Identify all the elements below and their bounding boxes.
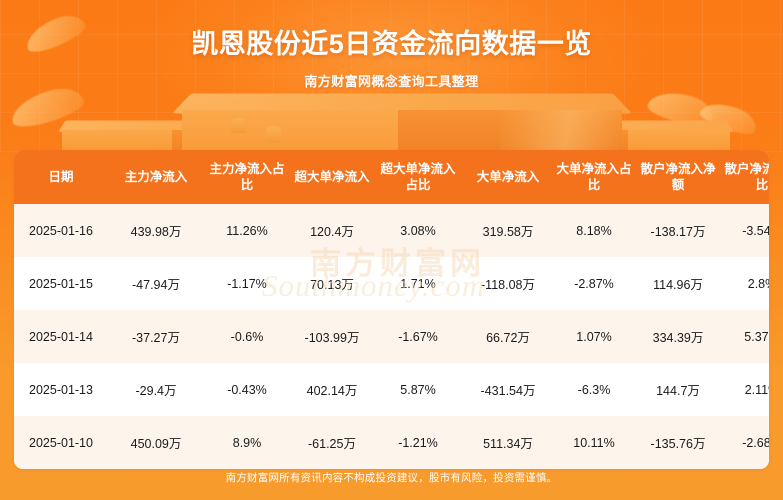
column-header-0: 日期 [14,150,108,204]
table-cell: -1.17% [204,257,290,310]
table-cell: 450.09万 [108,416,204,469]
table-cell: -47.94万 [108,257,204,310]
cell-date: 2025-01-14 [14,310,108,363]
table-cell: 1.07% [554,310,634,363]
table-cell: 439.98万 [108,204,204,257]
table-cell: -118.08万 [462,257,554,310]
column-header-3: 超大单净流入 [290,150,374,204]
disclaimer-text: 南方财富网所有资讯内容不构成投资建议，股市有风险，投资需谨慎。 [0,470,783,485]
table-cell: -6.3% [554,363,634,416]
podium-right-top [520,121,733,132]
table-cell: -2.87% [554,257,634,310]
podium-illustration [0,84,783,154]
table-cell: -1.67% [374,310,462,363]
table-cell: -138.17万 [634,204,722,257]
podium-left-top [58,121,265,132]
podium-stud [266,126,281,143]
page-subtitle: 南方财富网概念查询工具整理 [0,71,783,90]
table-header-row: 日期主力净流入主力净流入占比超大单净流入超大单净流入占比大单净流入大单净流入占比… [14,150,769,204]
table-cell: -29.4万 [108,363,204,416]
podium-center-front [182,110,398,154]
table-cell: -1.21% [374,416,462,469]
table-cell: -37.27万 [108,310,204,363]
table-cell: 70.13万 [290,257,374,310]
table-header: 日期主力净流入主力净流入占比超大单净流入超大单净流入占比大单净流入大单净流入占比… [14,150,769,204]
table-cell: 2.11% [722,363,769,416]
table-cell: 319.58万 [462,204,554,257]
leaf-decoration-icon [646,86,717,129]
cell-date: 2025-01-15 [14,257,108,310]
podium-center-side [398,110,622,154]
table-row: 2025-01-10450.09万8.9%-61.25万-1.21%511.34… [14,416,769,469]
column-header-4: 超大单净流入占比 [374,150,462,204]
table-cell: 11.26% [204,204,290,257]
leaf-decoration-icon [698,97,761,139]
table-row: 2025-01-13-29.4万-0.43%402.14万5.87%-431.5… [14,363,769,416]
cell-date: 2025-01-13 [14,363,108,416]
table-cell: 144.7万 [634,363,722,416]
table-cell: 66.72万 [462,310,554,363]
table-cell: 2.8% [722,257,769,310]
table-cell: -135.76万 [634,416,722,469]
table-cell: 511.34万 [462,416,554,469]
table-cell: 3.08% [374,204,462,257]
podium-stud [231,118,246,133]
table-cell: -2.68% [722,416,769,469]
table-cell: -3.54% [722,204,769,257]
table-cell: 120.4万 [290,204,374,257]
table-cell: -0.43% [204,363,290,416]
table-cell: 5.87% [374,363,462,416]
table-row: 2025-01-14-37.27万-0.6%-103.99万-1.67%66.7… [14,310,769,363]
podium-center-highlight [500,110,622,154]
column-header-1: 主力净流入 [108,150,204,204]
table-cell: 402.14万 [290,363,374,416]
table-cell: 10.11% [554,416,634,469]
table-row: 2025-01-15-47.94万-1.17%70.13万1.71%-118.0… [14,257,769,310]
table-cell: 334.39万 [634,310,722,363]
table-cell: 1.71% [374,257,462,310]
column-header-7: 散户净流入净额 [634,150,722,204]
table-cell: 5.37% [722,310,769,363]
table-cell: 8.9% [204,416,290,469]
page-root: 凯恩股份近5日资金流向数据一览 南方财富网概念查询工具整理 南方财富网 Sout… [0,0,783,500]
fund-flow-table: 日期主力净流入主力净流入占比超大单净流入超大单净流入占比大单净流入大单净流入占比… [14,150,769,469]
table-cell: -0.6% [204,310,290,363]
table-row: 2025-01-16439.98万11.26%120.4万3.08%319.58… [14,204,769,257]
table-cell: 8.18% [554,204,634,257]
cell-date: 2025-01-16 [14,204,108,257]
column-header-2: 主力净流入占比 [204,150,290,204]
table-cell: 114.96万 [634,257,722,310]
table-cell: -61.25万 [290,416,374,469]
column-header-5: 大单净流入 [462,150,554,204]
column-header-8: 散户净流入占比 [722,150,769,204]
table-cell: -431.54万 [462,363,554,416]
table-body: 2025-01-16439.98万11.26%120.4万3.08%319.58… [14,204,769,469]
fund-flow-table-card: 日期主力净流入主力净流入占比超大单净流入超大单净流入占比大单净流入大单净流入占比… [14,150,769,469]
podium-center-top [172,93,632,113]
cell-date: 2025-01-10 [14,416,108,469]
page-title: 凯恩股份近5日资金流向数据一览 [0,22,783,61]
column-header-6: 大单净流入占比 [554,150,634,204]
table-cell: -103.99万 [290,310,374,363]
